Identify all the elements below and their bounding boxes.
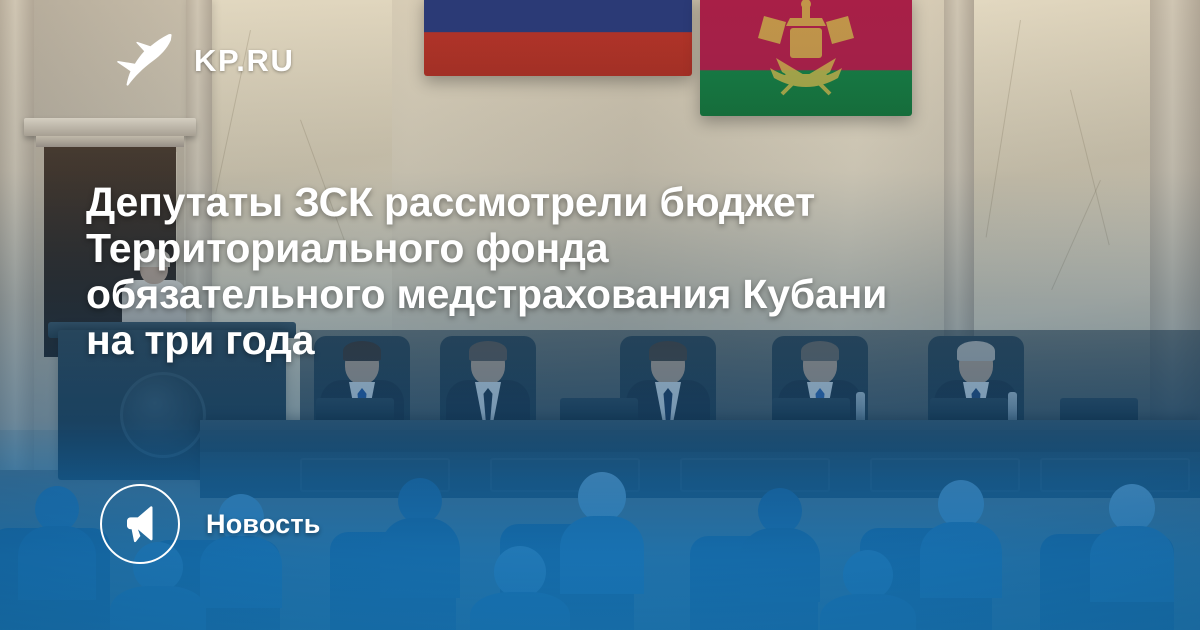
news-share-card: KP.RU Депутаты ЗСК рассмотрели бюджет Те…: [0, 0, 1200, 630]
headline-line-2: Территориального фонда: [86, 226, 1096, 272]
news-badge[interactable]: Новость: [100, 484, 321, 564]
foreground-layer: KP.RU Депутаты ЗСК рассмотрели бюджет Те…: [0, 0, 1200, 630]
badge-icon-circle: [100, 484, 180, 564]
brand-name: KP.RU: [194, 45, 294, 76]
swallow-bird-icon: [110, 30, 172, 90]
headline-line-1: Депутаты ЗСК рассмотрели бюджет: [86, 180, 1096, 226]
headline-line-3: обязательного медстрахования Кубани: [86, 272, 1096, 318]
badge-label: Новость: [206, 509, 321, 540]
headline: Депутаты ЗСК рассмотрели бюджет Территор…: [86, 180, 1096, 364]
headline-line-4: на три года: [86, 318, 1096, 364]
brand-logo[interactable]: KP.RU: [110, 30, 294, 90]
megaphone-icon: [119, 503, 161, 545]
